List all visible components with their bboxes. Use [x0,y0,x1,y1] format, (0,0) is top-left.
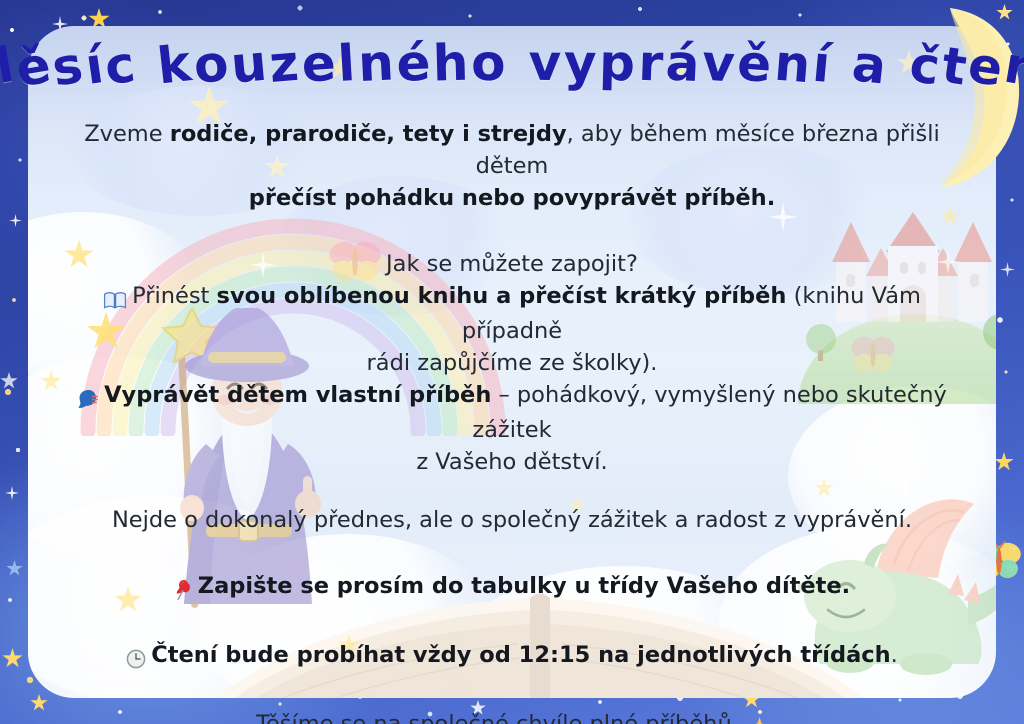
title-char: ě [736,34,773,94]
title-char: u [229,34,269,95]
title-char: é [395,34,431,93]
title-char: o [471,34,506,93]
pushpin-icon [174,573,193,605]
closing-text: Těšíme se na společné chvíle plné příběh… [256,711,746,724]
poster-body: Zveme rodiče, prarodiče, tety i strejdy,… [50,118,974,724]
title-char: p [599,34,636,93]
title-char: o [191,34,231,95]
title-char: a [850,34,889,95]
title-char: s [49,36,87,98]
title-char: h [432,34,469,93]
question-line: Jak se můžete zapojit? [50,248,974,280]
signup-bold: Zapište se prosím do tabulky u třídy Vaš… [198,573,850,599]
clock-icon [126,642,146,674]
title-char [509,34,526,92]
time-info-bold: Čtení bude probíhat vždy od 12:15 na jed… [151,642,890,668]
speaking-head-icon [77,382,99,414]
note-line: Nejde o dokonalý přednes, ale o společný… [50,504,974,536]
time-info-line: Čtení bude probíhat vždy od 12:15 na jed… [50,639,974,674]
title-char: n [357,34,395,94]
intro-bold-action: přečíst pohádku nebo povyprávět příběh. [249,185,776,211]
bullet-1-line-2: rádi zapůjčíme ze školky). [50,347,974,379]
closing-line: Těšíme se na společné chvíle plné příběh… [50,708,974,724]
title-char: v [701,34,736,94]
page-title: Měsíc kouzelného vyprávění a čtení [0,34,1024,120]
bullet-1-text-before: Přinést [132,283,216,309]
bullet-2-line-2: z Vašeho dětství. [50,446,974,478]
title-char: á [664,34,700,94]
intro-line-2: přečíst pohádku nebo povyprávět příběh. [50,182,974,214]
title-char: e [299,34,336,94]
title-char: c [102,35,139,96]
bullet-2-bold: Vyprávět dětem vlastní příběh [104,382,491,408]
title-char: z [267,34,300,94]
bullet-2-text-after: – pohádkový, vymyšlený nebo skutečný záž… [472,382,947,443]
title-char: k [155,34,194,95]
time-info-suffix: . [891,642,898,668]
intro-bold-roles: rodiče, prarodiče, tety i strejdy [170,121,567,147]
title-char: n [772,34,812,95]
bullet-1-bold: svou oblíbenou knihu a přečíst krátký př… [217,283,787,309]
title-char: r [637,34,663,93]
title-char: v [529,34,561,92]
poster: Měsíc kouzelného vyprávění a čtení Zveme… [0,0,1024,724]
bullet-1-line-1: Přinést svou oblíbenou knihu a přečíst k… [50,280,974,347]
sparkles-icon [746,711,768,724]
title-char: l [336,34,356,93]
title-char: í [810,35,832,94]
intro-line-1: Zveme rodiče, prarodiče, tety i strejdy,… [50,118,974,182]
bullet-2-line-1: Vyprávět dětem vlastní příběh – pohádkov… [50,379,974,446]
title-char: ě [12,36,54,99]
title-char: č [906,35,943,96]
signup-line: Zapište se prosím do tabulky u třídy Vaš… [50,570,974,605]
open-book-icon [103,283,127,315]
intro-text-1: Zveme [84,121,170,147]
title-char: y [564,34,597,93]
poster-text-content: Měsíc kouzelného vyprávění a čtení Zveme… [0,0,1024,724]
